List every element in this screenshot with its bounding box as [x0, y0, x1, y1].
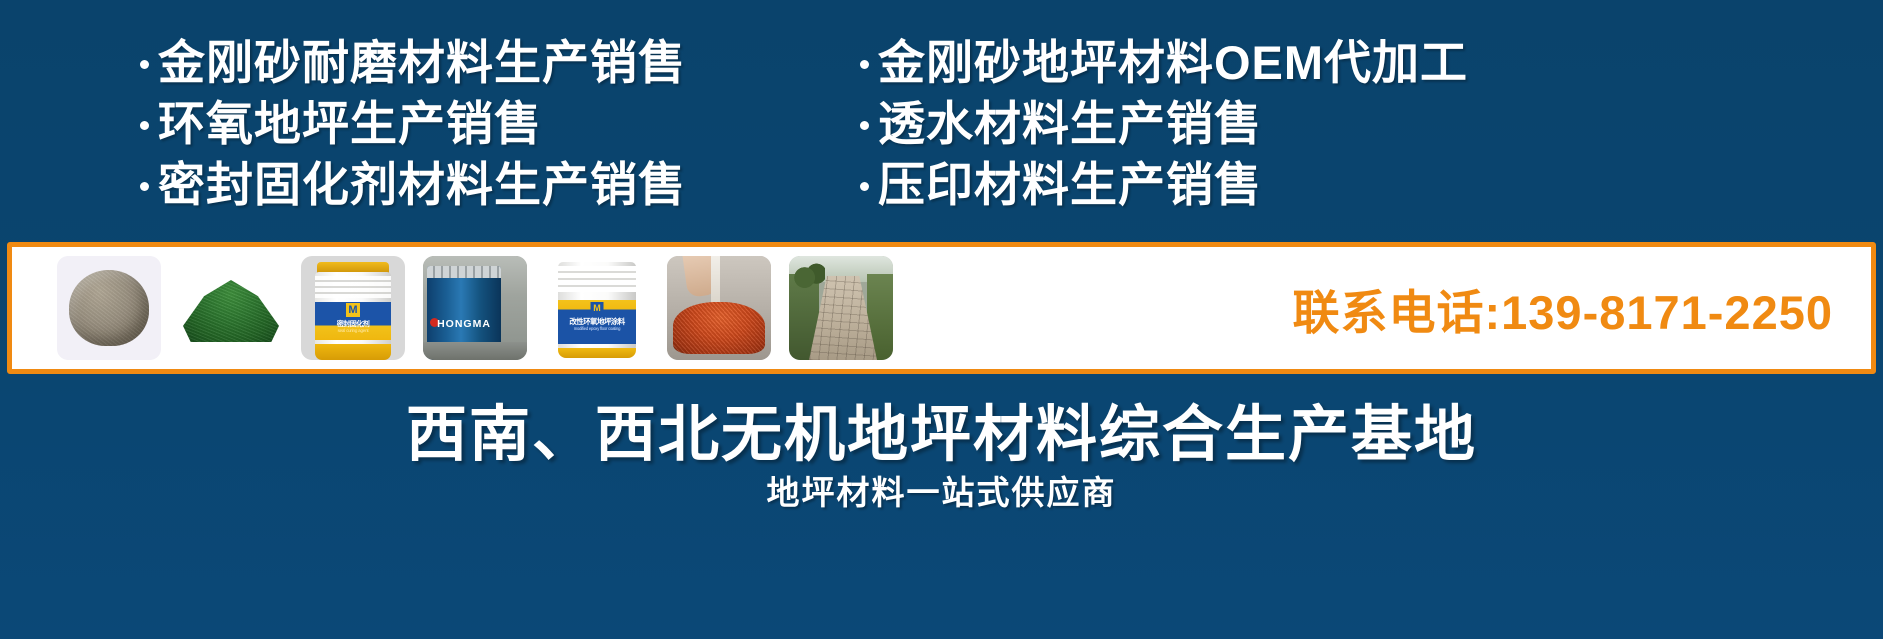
product-thumb-green-powder — [179, 256, 283, 360]
pail-base-icon — [558, 348, 636, 358]
page-subtitle: 地坪材料一站式供应商 — [0, 466, 1883, 514]
drum-ground-icon — [423, 342, 527, 360]
pail-rings-icon — [558, 266, 636, 292]
feature-item: 金刚砂耐磨材料生产销售 — [140, 34, 840, 91]
feature-item: 密封固化剂材料生产销售 — [140, 156, 840, 213]
product-thumb-hongma-drum: HONGMA — [423, 256, 527, 360]
page-title: 西南、西北无机地坪材料综合生产基地 — [0, 384, 1883, 473]
bullet-dot-icon — [140, 121, 149, 130]
feature-item: 透水材料生产销售 — [860, 95, 1540, 152]
product-strip: M 密封固化剂 seal curing agent HONGMA M 改性环氧地… — [7, 242, 1876, 374]
drum-clamp-icon — [427, 266, 501, 278]
brand-m-logo-icon: M — [346, 303, 360, 317]
bullet-dot-icon — [140, 182, 149, 191]
product-thumb-stamped-path — [789, 256, 893, 360]
feature-label: 金刚砂耐磨材料生产销售 — [158, 34, 686, 91]
feature-label: 透水材料生产销售 — [878, 95, 1262, 152]
trees-icon — [791, 262, 825, 288]
contact-phone[interactable]: 联系电话:139-8171-2250 — [1293, 274, 1872, 343]
feature-item: 压印材料生产销售 — [860, 156, 1540, 213]
bullet-dot-icon — [860, 182, 869, 191]
product-thumb-sealer-pail: M 密封固化剂 seal curing agent — [301, 256, 405, 360]
product-thumbnails: M 密封固化剂 seal curing agent HONGMA M 改性环氧地… — [12, 247, 893, 369]
feature-label: 密封固化剂材料生产销售 — [158, 156, 686, 213]
pail-label-en: seal curing agent — [301, 328, 405, 333]
promo-banner: 金刚砂耐磨材料生产销售 环氧地坪生产销售 密封固化剂材料生产销售 金刚砂地坪材料… — [0, 0, 1883, 639]
feature-lists: 金刚砂耐磨材料生产销售 环氧地坪生产销售 密封固化剂材料生产销售 金刚砂地坪材料… — [0, 34, 1883, 234]
bullet-dot-icon — [140, 60, 149, 69]
grey-powder-pile-icon — [69, 270, 149, 346]
feature-column-left: 金刚砂耐磨材料生产销售 环氧地坪生产销售 密封固化剂材料生产销售 — [140, 34, 840, 213]
product-thumb-grey-powder — [57, 256, 161, 360]
product-thumb-red-aggregate — [667, 256, 771, 360]
feature-item: 环氧地坪生产销售 — [140, 95, 840, 152]
feature-label: 环氧地坪生产销售 — [158, 95, 542, 152]
pail-label-en: modified epoxy floor coating — [545, 326, 649, 331]
feature-label: 压印材料生产销售 — [878, 156, 1262, 213]
feature-column-right: 金刚砂地坪材料OEM代加工 透水材料生产销售 压印材料生产销售 — [860, 34, 1540, 213]
bullet-dot-icon — [860, 121, 869, 130]
pour-stream-icon — [711, 256, 720, 308]
product-thumb-epoxy-pail: M 改性环氧地坪涂料 modified epoxy floor coating — [545, 256, 649, 360]
red-aggregate-pile-icon — [673, 302, 765, 354]
feature-label: 金刚砂地坪材料OEM代加工 — [878, 34, 1468, 91]
green-powder-pile-icon — [183, 280, 279, 342]
bullet-dot-icon — [860, 60, 869, 69]
pail-base-icon — [315, 344, 391, 360]
brand-m-logo-icon: M — [591, 302, 604, 314]
drum-brand-label: HONGMA — [427, 318, 501, 330]
pail-rings-icon — [315, 276, 391, 298]
feature-item: 金刚砂地坪材料OEM代加工 — [860, 34, 1540, 91]
